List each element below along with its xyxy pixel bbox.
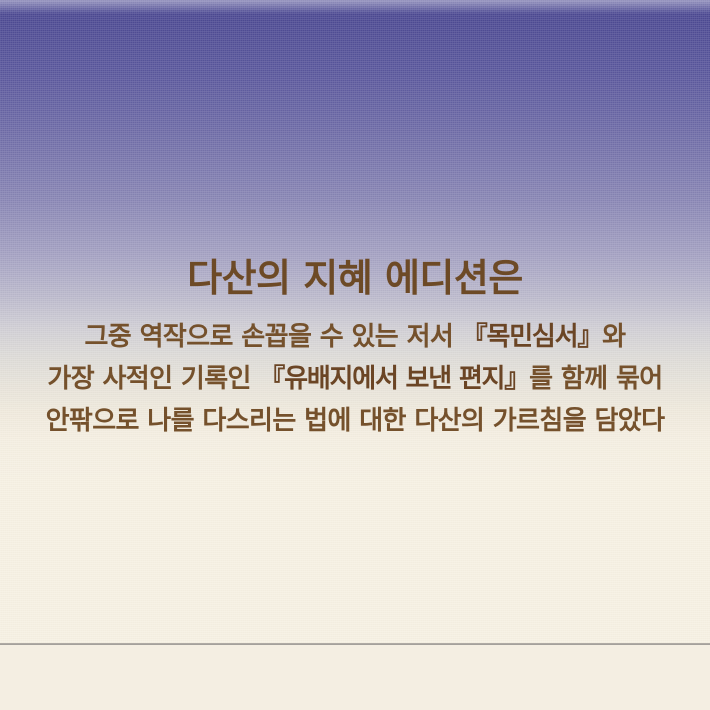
body-line-1-after: 와 (602, 322, 625, 352)
promo-card: 다산의 지혜 에디션은 그중 역작으로 손꼽을 수 있는 저서 『목민심서』와 … (0, 0, 710, 710)
body-line-3-before: 안팎으로 나를 다스리는 법에 대한 다산의 가르침을 담았다 (46, 406, 665, 436)
page-title: 다산의 지혜 에디션은 (8, 252, 702, 304)
body-line-2-before: 가장 사적인 기록인 (47, 364, 259, 394)
body-line-2-after: 를 함께 묶어 (529, 364, 663, 394)
book-title-mokminsimseo: 『목민심서』 (462, 322, 602, 352)
body-line-1: 그중 역작으로 손꼽을 수 있는 저서 『목민심서』와 (8, 316, 702, 358)
body-line-3: 안팎으로 나를 다스리는 법에 대한 다산의 가르침을 담았다 (8, 400, 702, 442)
body-line-2: 가장 사적인 기록인 『유배지에서 보낸 편지』를 함께 묶어 (8, 358, 702, 400)
body-line-1-before: 그중 역작으로 손꼽을 수 있는 저서 (84, 322, 461, 352)
book-title-yubaeji-pyeonji: 『유배지에서 보낸 편지』 (259, 364, 529, 394)
copy-block: 다산의 지혜 에디션은 그중 역작으로 손꼽을 수 있는 저서 『목민심서』와 … (0, 252, 710, 442)
footer-band (0, 645, 710, 710)
